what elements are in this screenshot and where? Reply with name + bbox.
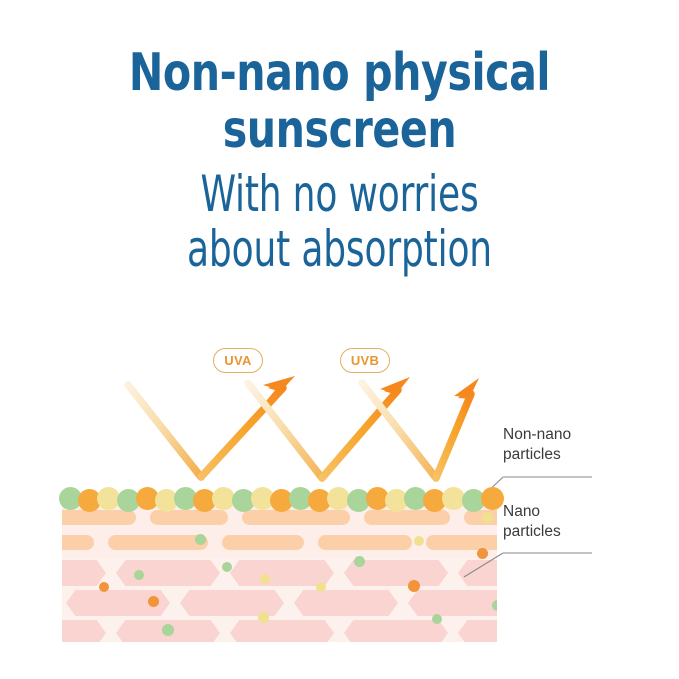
nano-particle	[354, 556, 365, 567]
nano-particle	[408, 580, 420, 592]
skin-brick-cell	[62, 535, 94, 550]
nano-particle	[432, 614, 442, 624]
nano-particle	[316, 582, 326, 592]
nano-particle	[477, 548, 488, 559]
uvb-badge: UVB	[340, 348, 390, 373]
skin-brick-cell	[222, 535, 304, 550]
non-nano-label-line-2: particles	[503, 445, 571, 465]
skin-brick-cell	[242, 510, 350, 525]
nano-particle	[492, 600, 497, 611]
non-nano-particles-label: Non-nano particles	[503, 425, 571, 465]
uva-badge: UVA	[213, 348, 263, 373]
nano-particle	[162, 624, 174, 636]
nano-particle	[414, 536, 424, 546]
infographic-canvas: Non-nano physical sunscreen With no worr…	[0, 0, 679, 679]
non-nano-label-line-1: Non-nano	[503, 425, 571, 445]
nano-particle	[482, 512, 493, 523]
uv-ray-2	[248, 377, 410, 478]
nano-particle	[222, 562, 232, 572]
headline-line-2: sunscreen	[41, 105, 639, 156]
skin-hex-cell	[408, 590, 497, 616]
headline-line-1: Non-nano physical	[41, 48, 639, 99]
uv-ray-3	[362, 378, 479, 478]
nano-particle	[148, 596, 159, 607]
headline-block: Non-nano physical sunscreen With no worr…	[0, 48, 679, 274]
non-nano-particle	[481, 487, 504, 510]
headline-line-3: With no worries	[68, 170, 611, 219]
nano-particle	[260, 574, 270, 584]
skin-hex-cell	[180, 590, 284, 616]
skin-hex-cell	[62, 560, 106, 586]
nano-label-line-2: particles	[503, 522, 561, 542]
skin-brick-cell	[108, 535, 208, 550]
nano-particle	[134, 570, 144, 580]
nano-particle	[99, 582, 109, 592]
nano-label-line-1: Nano	[503, 502, 561, 522]
skin-brick-cell	[364, 510, 450, 525]
skin-hex-cell	[294, 590, 398, 616]
uv-ray-1	[128, 376, 295, 477]
nano-particle	[195, 534, 206, 545]
skin-hex-cell	[116, 560, 220, 586]
skin-hex-cell	[230, 620, 334, 642]
skin-hex-cell	[344, 620, 448, 642]
skin-brick-cell	[150, 510, 228, 525]
nano-particle	[258, 612, 269, 623]
skin-brick-cell	[426, 535, 497, 550]
skin-cross-section	[62, 496, 497, 642]
skin-brick-cell	[62, 510, 136, 525]
nano-particles-label: Nano particles	[503, 502, 561, 542]
skin-brick-cell	[318, 535, 412, 550]
headline-line-4: about absorption	[68, 225, 611, 274]
